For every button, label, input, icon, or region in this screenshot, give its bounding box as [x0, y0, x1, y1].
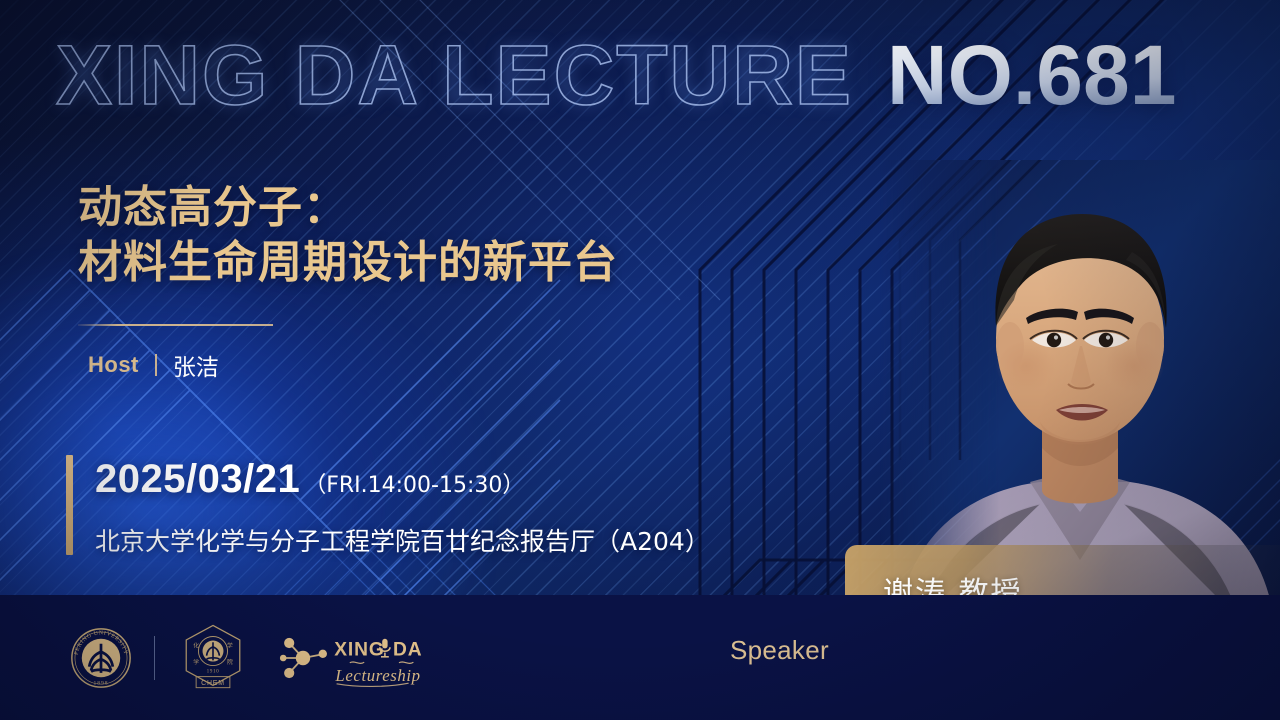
series-title: XING DA LECTURE [56, 33, 853, 117]
lecture-time: （FRI.14:00-15:30） [304, 467, 524, 499]
pku-chemistry-logo-icon: 化 学 学 院 1910 CHEM [181, 623, 245, 693]
lecture-number: NO.681 [887, 33, 1177, 117]
svg-text:DA: DA [393, 639, 423, 660]
lecture-date: 2025/03/21 [95, 457, 300, 502]
xing-da-lectureship-logo-icon: XING DA Lectureship [279, 627, 429, 689]
svg-text:Lectureship: Lectureship [334, 665, 420, 684]
svg-text:XING: XING [334, 639, 385, 660]
logo-divider [154, 636, 155, 680]
svg-text:1898: 1898 [93, 680, 108, 686]
date-row: 2025/03/21 （FRI.14:00-15:30） [95, 457, 710, 502]
host-label: Host [88, 352, 139, 378]
svg-text:学: 学 [227, 641, 233, 649]
title-divider [78, 324, 273, 326]
lecture-venue: 北京大学化学与分子工程学院百廿纪念报告厅（A204） [95, 522, 710, 558]
host-name: 张洁 [173, 348, 219, 382]
svg-text:院: 院 [227, 657, 233, 665]
title-line-1: 动态高分子： [78, 180, 738, 235]
svg-text:CHEM: CHEM [201, 679, 225, 686]
svg-text:化: 化 [193, 641, 199, 649]
svg-text:学: 学 [193, 657, 199, 665]
host-row: Host 张洁 [88, 348, 219, 382]
peking-university-seal-icon: PEKING UNIVERSITY 1898 [70, 627, 132, 689]
svg-text:1910: 1910 [207, 668, 220, 674]
lecture-poster: XING DA LECTURE NO.681 动态高分子： 材料生命周期设计的新… [0, 0, 1280, 720]
speaker-label: Speaker [730, 635, 829, 666]
schedule-block: 2025/03/21 （FRI.14:00-15:30） 北京大学化学与分子工程… [66, 455, 710, 558]
host-separator-bar [155, 354, 157, 376]
footer-logos: PEKING UNIVERSITY 1898 化 学 学 院 1910 [70, 595, 429, 720]
title-line-2: 材料生命周期设计的新平台 [78, 235, 738, 290]
schedule-accent-bar [66, 455, 73, 555]
lecture-title: 动态高分子： 材料生命周期设计的新平台 [78, 180, 738, 291]
masthead: XING DA LECTURE NO.681 [56, 22, 1236, 127]
